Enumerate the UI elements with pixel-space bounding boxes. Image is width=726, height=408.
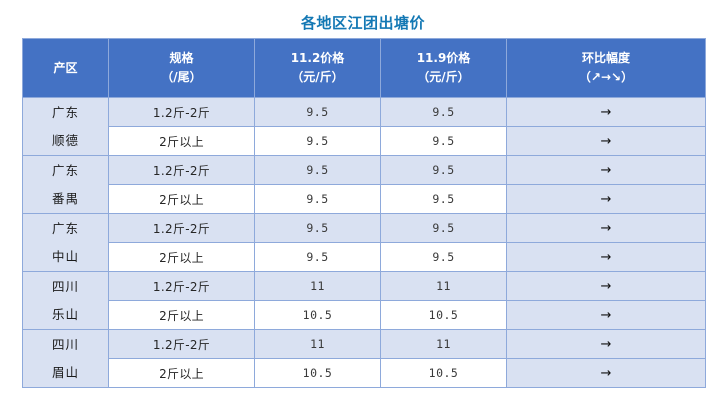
region-city: 乐山 (23, 301, 108, 329)
change-cell: → (507, 98, 706, 127)
price-112-cell: 9.5 (255, 243, 381, 272)
arrow-right-icon: → (601, 164, 612, 177)
price-112-cell: 9.5 (255, 127, 381, 156)
price-112-cell: 10.5 (255, 359, 381, 388)
change-cell: → (507, 330, 706, 359)
table-row: 四川 眉山 1.2斤-2斤 11 11 → (23, 330, 706, 359)
column-header-price-112: 11.2价格 （元/斤） (255, 39, 381, 98)
region-city: 中山 (23, 243, 108, 271)
change-cell: → (507, 359, 706, 388)
column-header-change: 环比幅度 （↗→↘） (507, 39, 706, 98)
region-cell: 四川 眉山 (23, 330, 109, 388)
arrow-right-icon: → (601, 135, 612, 148)
page-title: 各地区江团出塘价 (0, 12, 726, 33)
spec-cell: 1.2斤-2斤 (109, 330, 255, 359)
price-119-cell: 11 (381, 272, 507, 301)
table-body: 广东 顺德 1.2斤-2斤 9.5 9.5 → 2斤以上 9.5 9.5 → (23, 98, 706, 388)
page-root: 各地区江团出塘价 产区 规格 （/尾） (0, 0, 726, 408)
arrow-right-icon: → (601, 280, 612, 293)
table-row: 2斤以上 10.5 10.5 → (23, 359, 706, 388)
column-header-change-line1: 环比幅度 (507, 49, 705, 68)
price-112-cell: 10.5 (255, 301, 381, 330)
column-header-price-119-line2: （元/斤） (381, 68, 506, 87)
column-header-region: 产区 (23, 39, 109, 98)
price-119-cell: 9.5 (381, 156, 507, 185)
region-cell: 广东 中山 (23, 214, 109, 272)
region-city: 顺德 (23, 127, 108, 155)
change-cell: → (507, 127, 706, 156)
price-112-cell: 11 (255, 272, 381, 301)
table-row: 2斤以上 9.5 9.5 → (23, 243, 706, 272)
change-cell: → (507, 243, 706, 272)
price-119-cell: 9.5 (381, 185, 507, 214)
table-row: 广东 番禺 1.2斤-2斤 9.5 9.5 → (23, 156, 706, 185)
arrow-right-icon: → (601, 367, 612, 380)
arrow-right-icon: → (601, 309, 612, 322)
price-119-cell: 10.5 (381, 359, 507, 388)
table-row: 四川 乐山 1.2斤-2斤 11 11 → (23, 272, 706, 301)
column-header-region-line1: 产区 (23, 59, 108, 78)
price-112-cell: 9.5 (255, 98, 381, 127)
region-cell: 广东 番禺 (23, 156, 109, 214)
spec-cell: 1.2斤-2斤 (109, 156, 255, 185)
table-row: 广东 顺德 1.2斤-2斤 9.5 9.5 → (23, 98, 706, 127)
price-119-cell: 9.5 (381, 243, 507, 272)
spec-cell: 2斤以上 (109, 185, 255, 214)
spec-cell: 1.2斤-2斤 (109, 214, 255, 243)
price-112-cell: 11 (255, 330, 381, 359)
price-table-wrapper: 产区 规格 （/尾） 11.2价格 （元/斤） 11.9价格 （元/斤） (22, 38, 705, 388)
region-city: 眉山 (23, 359, 108, 387)
price-119-cell: 9.5 (381, 127, 507, 156)
column-header-price-119: 11.9价格 （元/斤） (381, 39, 507, 98)
spec-cell: 1.2斤-2斤 (109, 98, 255, 127)
change-cell: → (507, 272, 706, 301)
region-cell: 广东 顺德 (23, 98, 109, 156)
spec-cell: 2斤以上 (109, 359, 255, 388)
price-119-cell: 11 (381, 330, 507, 359)
region-province: 广东 (23, 215, 108, 243)
spec-cell: 2斤以上 (109, 301, 255, 330)
price-119-cell: 9.5 (381, 98, 507, 127)
spec-cell: 2斤以上 (109, 127, 255, 156)
price-table: 产区 规格 （/尾） 11.2价格 （元/斤） 11.9价格 （元/斤） (22, 38, 706, 388)
spec-cell: 1.2斤-2斤 (109, 272, 255, 301)
table-header-row: 产区 规格 （/尾） 11.2价格 （元/斤） 11.9价格 （元/斤） (23, 39, 706, 98)
table-row: 2斤以上 10.5 10.5 → (23, 301, 706, 330)
table-row: 2斤以上 9.5 9.5 → (23, 127, 706, 156)
arrow-right-icon: → (601, 106, 612, 119)
arrow-right-icon: → (601, 193, 612, 206)
column-header-price-119-line1: 11.9价格 (381, 49, 506, 68)
column-header-change-line2: （↗→↘） (507, 68, 705, 87)
price-112-cell: 9.5 (255, 185, 381, 214)
column-header-price-112-line1: 11.2价格 (255, 49, 380, 68)
change-cell: → (507, 301, 706, 330)
column-header-price-112-line2: （元/斤） (255, 68, 380, 87)
column-header-spec: 规格 （/尾） (109, 39, 255, 98)
price-112-cell: 9.5 (255, 156, 381, 185)
spec-cell: 2斤以上 (109, 243, 255, 272)
table-row: 广东 中山 1.2斤-2斤 9.5 9.5 → (23, 214, 706, 243)
region-city: 番禺 (23, 185, 108, 213)
arrow-right-icon: → (601, 251, 612, 264)
region-province: 广东 (23, 157, 108, 185)
table-row: 2斤以上 9.5 9.5 → (23, 185, 706, 214)
price-112-cell: 9.5 (255, 214, 381, 243)
arrow-right-icon: → (601, 338, 612, 351)
column-header-spec-line2: （/尾） (109, 68, 254, 87)
arrow-right-icon: → (601, 222, 612, 235)
region-province: 四川 (23, 331, 108, 359)
table-header: 产区 规格 （/尾） 11.2价格 （元/斤） 11.9价格 （元/斤） (23, 39, 706, 98)
price-119-cell: 9.5 (381, 214, 507, 243)
column-header-spec-line1: 规格 (109, 49, 254, 68)
region-province: 四川 (23, 273, 108, 301)
region-province: 广东 (23, 99, 108, 127)
change-cell: → (507, 156, 706, 185)
change-cell: → (507, 185, 706, 214)
region-cell: 四川 乐山 (23, 272, 109, 330)
change-cell: → (507, 214, 706, 243)
price-119-cell: 10.5 (381, 301, 507, 330)
